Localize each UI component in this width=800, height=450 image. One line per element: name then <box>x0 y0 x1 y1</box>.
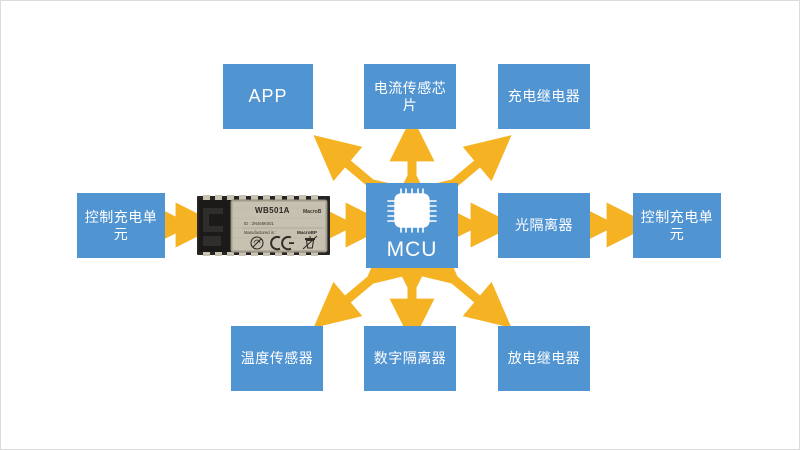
svg-text:MacroBP: MacroBP <box>297 230 317 235</box>
svg-text:Manufactured in :: Manufactured in : <box>244 230 276 235</box>
arrow-opto-control-right <box>589 215 637 235</box>
node-temp-sensor[interactable]: 温度传感器 <box>231 326 323 391</box>
node-mcu-label: MCU <box>381 238 444 263</box>
node-app[interactable]: APP <box>223 64 313 129</box>
node-discharge-relay[interactable]: 放电继电器 <box>498 326 590 391</box>
node-temp-sensor-label: 温度传感器 <box>235 350 320 367</box>
arrow-mcu-digital-isolator <box>402 269 422 329</box>
node-control-unit-left-label: 控制充电单元 <box>77 209 165 242</box>
wb501a-module-photo: WB501A MacroB ID : 2N466K001 Manufacture… <box>197 192 330 259</box>
arrow-mcu-discharge-relay <box>438 265 502 321</box>
node-control-unit-left[interactable]: 控制充电单元 <box>77 193 165 258</box>
svg-text:ID : 2N466K001: ID : 2N466K001 <box>244 221 274 226</box>
node-opto-isolator-label: 光隔离器 <box>509 217 579 234</box>
svg-text:MacroB: MacroB <box>303 209 322 215</box>
microchip-icon <box>387 188 437 234</box>
arrow-mcu-temp-sensor <box>323 265 387 321</box>
node-current-sense-chip[interactable]: 电流传感芯片 <box>364 64 456 129</box>
node-opto-isolator[interactable]: 光隔离器 <box>498 193 590 258</box>
node-current-sense-chip-label: 电流传感芯片 <box>364 80 456 113</box>
node-app-label: APP <box>242 86 293 107</box>
node-control-unit-right[interactable]: 控制充电单元 <box>633 193 721 258</box>
node-charge-relay[interactable]: 充电继电器 <box>498 64 590 129</box>
svg-text:WB501A: WB501A <box>255 206 290 215</box>
node-discharge-relay-label: 放电继电器 <box>502 350 587 367</box>
node-control-unit-right-label: 控制充电单元 <box>633 209 721 242</box>
node-mcu[interactable]: MCU <box>366 183 458 268</box>
node-digital-isolator[interactable]: 数字隔离器 <box>364 326 456 391</box>
diagram-canvas: APP 电流传感芯片 充电继电器 控制充电单元 <box>0 0 800 450</box>
node-digital-isolator-label: 数字隔离器 <box>368 350 453 367</box>
node-charge-relay-label: 充电继电器 <box>502 88 587 105</box>
arrow-mcu-opto <box>453 215 501 235</box>
